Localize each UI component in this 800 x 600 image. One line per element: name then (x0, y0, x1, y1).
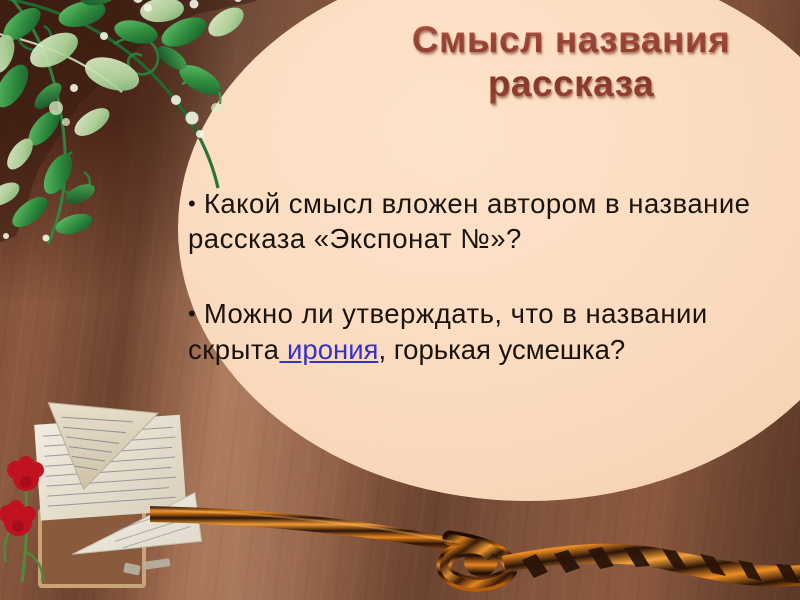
bullet-glyph: • (188, 191, 196, 216)
bullet-item-1: • Какой смысл вложен автором в название … (188, 186, 788, 256)
presentation-slide: Смысл названия рассказа • Какой смысл вл… (0, 0, 800, 600)
title-line-2: рассказа (356, 62, 786, 106)
irony-hyperlink[interactable]: ирония (279, 334, 378, 365)
body-text-block: • Какой смысл вложен автором в название … (188, 186, 788, 367)
title-line-1: Смысл названия (412, 19, 730, 60)
bullet-2-text-after-link: , горькая усмешка? (378, 334, 625, 365)
page-title: Смысл названия рассказа (356, 18, 786, 105)
bullet-item-2: • Можно ли утверждать, что в названии ск… (188, 296, 788, 366)
bullet-glyph: • (188, 301, 196, 326)
bullet-1-text: Какой смысл вложен автором в название ра… (188, 188, 750, 254)
